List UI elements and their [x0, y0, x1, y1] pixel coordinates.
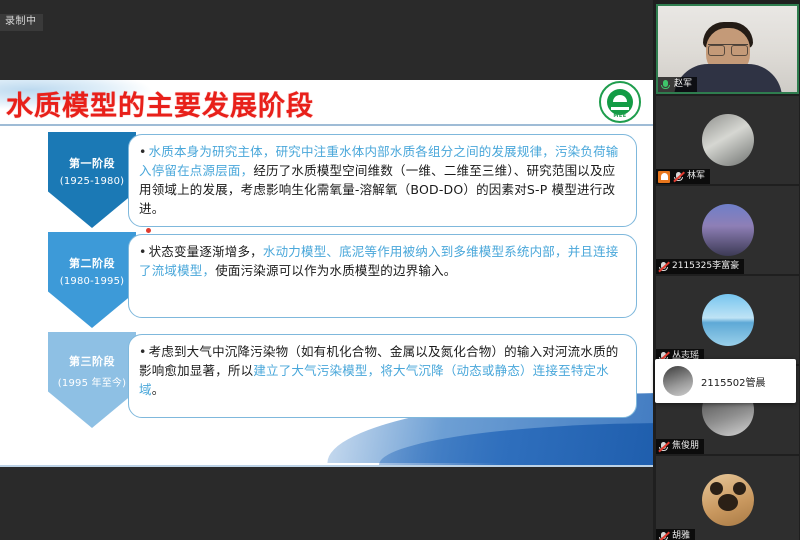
participant-tile-5[interactable]: 胡雅 [656, 456, 799, 540]
participant-name-4: 焦俊朋 [672, 442, 699, 451]
avatar [702, 204, 754, 256]
mic-unmuted-icon[interactable] [660, 79, 671, 91]
avatar [702, 474, 754, 526]
person-glasses [708, 44, 748, 53]
slide-title-band: 水质模型的主要发展阶段 MEE [0, 80, 653, 126]
participant-name-5: 胡雅 [672, 532, 690, 540]
stage-row-2: 第二阶段 (1980-1995) •状态变量逐渐增多，水动力模型、底泥等作用被纳… [0, 232, 653, 332]
participant-filmstrip[interactable]: 赵军 林军 2115325李富豪 丛志瑶 [653, 0, 800, 540]
stage-chevron-2: 第二阶段 (1980-1995) [48, 232, 136, 328]
participant-hover-tooltip: 2115502管晨 [655, 359, 796, 403]
stage-chevron-1: 第一阶段 (1925-1980) [48, 132, 136, 228]
host-badge-icon [658, 171, 670, 183]
bullet-3: • [139, 344, 147, 359]
participant-namebar-4: 焦俊朋 [656, 439, 704, 454]
stage-text-rest-2: 使面污染源可以作为水质模型的边界输入。 [215, 263, 456, 278]
stage-name-2: 第二阶段 [69, 255, 115, 271]
meeting-window: 录制中 水质模型的主要发展阶段 MEE 第一阶段 (1925-1980) •水质… [0, 0, 800, 540]
mic-muted-icon[interactable] [673, 171, 684, 183]
mic-muted-icon[interactable] [658, 531, 669, 540]
bullet-2: • [139, 244, 147, 259]
mic-muted-icon[interactable] [658, 261, 669, 273]
mee-logo-icon: MEE [599, 81, 641, 123]
avatar [702, 294, 754, 346]
participant-tile-3[interactable]: 丛志瑶 [656, 276, 799, 364]
mee-logo-text: MEE [601, 113, 639, 119]
tooltip-participant-name: 2115502管晨 [701, 374, 766, 389]
participant-namebar-5: 胡雅 [656, 529, 695, 540]
participant-namebar-0: 赵军 [658, 77, 697, 92]
stage-years-2: (1980-1995) [60, 276, 125, 287]
participant-namebar-1: 林军 [656, 169, 710, 184]
stage-callout-3: •考虑到大气中沉降污染物（如有机化合物、金属以及氮化合物）的输入对河流水质的影响… [128, 334, 637, 418]
participant-name-2: 2115325李富豪 [672, 262, 739, 271]
laser-pointer-dot [146, 228, 151, 233]
tooltip-avatar [663, 366, 693, 396]
recording-indicator: 录制中 [0, 14, 43, 31]
slide-body: 第一阶段 (1925-1980) •水质本身为研究主体，研究中注重水体内部水质各… [0, 126, 653, 465]
stage-years-3: (1995 年至今) [58, 374, 126, 389]
participant-tile-1[interactable]: 林军 [656, 96, 799, 184]
participant-name-0: 赵军 [674, 80, 692, 89]
stage-text-rest-3: 。 [152, 382, 165, 397]
mic-muted-icon[interactable] [658, 441, 669, 453]
bullet-1: • [139, 144, 147, 159]
stage-row-1: 第一阶段 (1925-1980) •水质本身为研究主体，研究中注重水体内部水质各… [0, 132, 653, 232]
participant-namebar-2: 2115325李富豪 [656, 259, 744, 274]
avatar [702, 114, 754, 166]
stage-chevron-3: 第三阶段 (1995 年至今) [48, 332, 136, 428]
stage-row-3: 第三阶段 (1995 年至今) •考虑到大气中沉降污染物（如有机化合物、金属以及… [0, 332, 653, 432]
shared-screen-slide: 水质模型的主要发展阶段 MEE 第一阶段 (1925-1980) •水质本身为研… [0, 80, 653, 467]
page-title: 水质模型的主要发展阶段 [6, 84, 314, 123]
stage-text-lead-2: 状态变量逐渐增多， [149, 244, 263, 259]
participant-tile-0[interactable]: 赵军 [656, 4, 799, 94]
stage-name-1: 第一阶段 [69, 155, 115, 171]
stage-name-3: 第三阶段 [69, 353, 115, 369]
stage-years-1: (1925-1980) [60, 176, 125, 187]
participant-tile-2[interactable]: 2115325李富豪 [656, 186, 799, 274]
mee-logo-emblem [607, 89, 633, 115]
participant-name-1: 林军 [687, 172, 705, 181]
stage-callout-1: •水质本身为研究主体，研究中注重水体内部水质各组分之间的发展规律，污染负荷输入停… [128, 134, 637, 227]
stage-callout-2: •状态变量逐渐增多，水动力模型、底泥等作用被纳入到多维模型系统内部，并且连接了流… [128, 234, 637, 318]
